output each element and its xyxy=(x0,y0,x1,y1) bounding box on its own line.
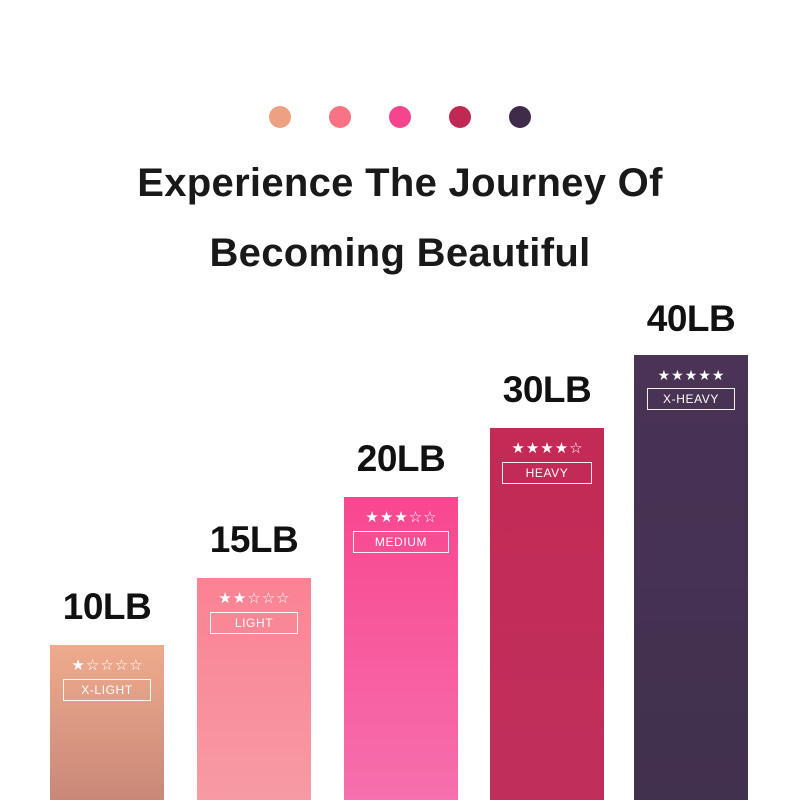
tier-label: X-HEAVY xyxy=(647,388,735,410)
star-empty-icon: ☆ xyxy=(423,510,436,525)
star-filled-icon: ★ xyxy=(712,368,725,382)
resistance-bar-chart: 10LB★☆☆☆☆X-LIGHT15LB★★☆☆☆LIGHT20LB★★★☆☆M… xyxy=(0,0,800,800)
bar-weight-label: 20LB xyxy=(357,440,445,477)
bar-group[interactable]: 10LB★☆☆☆☆X-LIGHT xyxy=(50,588,164,800)
star-empty-icon: ☆ xyxy=(115,658,128,673)
tier-label: LIGHT xyxy=(210,612,298,634)
infographic-root: Experience The Journey Of Becoming Beaut… xyxy=(0,0,800,800)
bar-badge: ★★★★☆HEAVY xyxy=(498,441,596,484)
star-empty-icon: ☆ xyxy=(262,591,275,606)
bar-badge: ★★☆☆☆LIGHT xyxy=(205,591,303,634)
bar-badge: ★★★☆☆MEDIUM xyxy=(352,510,450,553)
star-filled-icon: ★ xyxy=(658,368,671,382)
bar-weight-label: 15LB xyxy=(210,521,298,558)
bar-group[interactable]: 40LB★★★★★X-HEAVY xyxy=(634,300,748,800)
star-empty-icon: ☆ xyxy=(100,658,113,673)
star-filled-icon: ★ xyxy=(511,441,524,456)
star-empty-icon: ☆ xyxy=(409,510,422,525)
bar-group[interactable]: 15LB★★☆☆☆LIGHT xyxy=(197,521,311,800)
bar-badge: ★★★★★X-HEAVY xyxy=(642,368,740,410)
star-filled-icon: ★ xyxy=(233,591,246,606)
chart-bar[interactable]: ★★☆☆☆LIGHT xyxy=(197,578,311,800)
bar-weight-label: 40LB xyxy=(647,300,735,337)
star-filled-icon: ★ xyxy=(685,368,698,382)
star-filled-icon: ★ xyxy=(71,658,84,673)
chart-bar[interactable]: ★★★★★X-HEAVY xyxy=(634,355,748,800)
star-empty-icon: ☆ xyxy=(569,441,582,456)
bar-weight-label: 10LB xyxy=(63,588,151,625)
chart-bar[interactable]: ★★★★☆HEAVY xyxy=(490,428,604,800)
star-filled-icon: ★ xyxy=(698,368,711,382)
star-filled-icon: ★ xyxy=(526,441,539,456)
star-empty-icon: ☆ xyxy=(129,658,142,673)
bar-group[interactable]: 20LB★★★☆☆MEDIUM xyxy=(344,440,458,800)
rating-stars: ★★★★★ xyxy=(658,368,725,382)
tier-label: MEDIUM xyxy=(353,531,449,553)
star-empty-icon: ☆ xyxy=(247,591,260,606)
bar-group[interactable]: 30LB★★★★☆HEAVY xyxy=(490,371,604,800)
star-filled-icon: ★ xyxy=(555,441,568,456)
chart-bar[interactable]: ★☆☆☆☆X-LIGHT xyxy=(50,645,164,800)
rating-stars: ★★★☆☆ xyxy=(365,510,436,525)
tier-label: HEAVY xyxy=(502,462,592,484)
star-filled-icon: ★ xyxy=(365,510,378,525)
tier-label: X-LIGHT xyxy=(63,679,151,701)
star-empty-icon: ☆ xyxy=(86,658,99,673)
star-empty-icon: ☆ xyxy=(276,591,289,606)
star-filled-icon: ★ xyxy=(540,441,553,456)
rating-stars: ★★★★☆ xyxy=(511,441,582,456)
chart-bar[interactable]: ★★★☆☆MEDIUM xyxy=(344,497,458,800)
star-filled-icon: ★ xyxy=(218,591,231,606)
bar-weight-label: 30LB xyxy=(503,371,591,408)
star-filled-icon: ★ xyxy=(380,510,393,525)
star-filled-icon: ★ xyxy=(394,510,407,525)
star-filled-icon: ★ xyxy=(671,368,684,382)
bar-badge: ★☆☆☆☆X-LIGHT xyxy=(58,658,156,701)
rating-stars: ★★☆☆☆ xyxy=(218,591,289,606)
rating-stars: ★☆☆☆☆ xyxy=(71,658,142,673)
